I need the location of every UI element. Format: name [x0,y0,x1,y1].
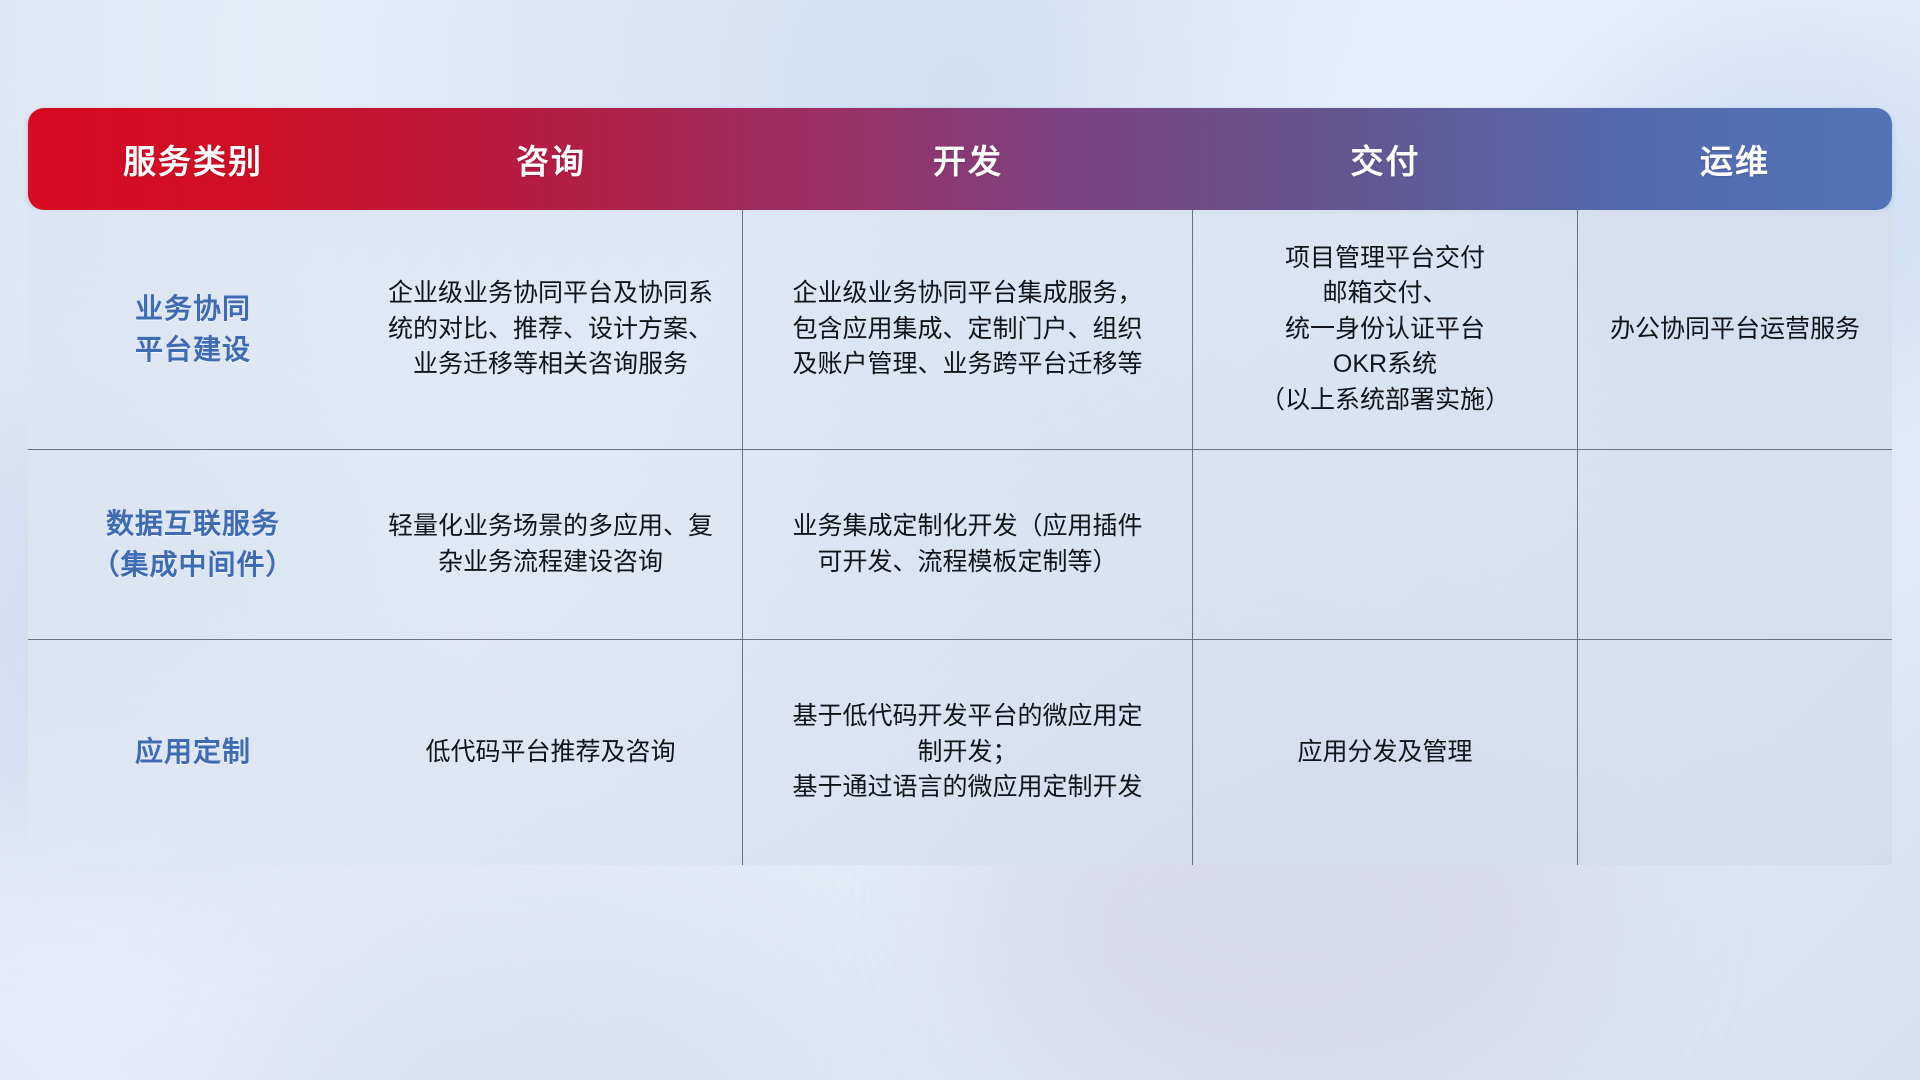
row-category-label: 应用定制 [28,640,358,865]
table-header-row: 服务类别 咨询 开发 交付 运维 [28,108,1892,210]
row-category-label: 业务协同 平台建设 [28,210,358,449]
service-matrix-table: 服务类别 咨询 开发 交付 运维 业务协同 平台建设 企业级业务协同平台及协同系… [28,108,1892,865]
cell-consulting: 企业级业务协同平台及协同系 统的对比、推荐、设计方案、 业务迁移等相关咨询服务 [358,210,743,449]
column-header-delivery-label: 交付 [1351,135,1421,183]
cell-consulting: 轻量化业务场景的多应用、复 杂业务流程建设咨询 [358,450,743,639]
table-row: 数据互联服务 （集成中间件） 轻量化业务场景的多应用、复 杂业务流程建设咨询 业… [28,450,1892,640]
column-header-category: 服务类别 [28,108,358,210]
column-header-development-label: 开发 [933,135,1003,183]
slide-canvas: 服务类别 咨询 开发 交付 运维 业务协同 平台建设 企业级业务协同平台及协同系… [0,0,1920,1080]
cell-development: 基于低代码开发平台的微应用定 制开发； 基于通过语言的微应用定制开发 [743,640,1193,865]
cell-delivery: 应用分发及管理 [1193,640,1578,865]
column-header-operations-label: 运维 [1700,135,1770,183]
table-row: 业务协同 平台建设 企业级业务协同平台及协同系 统的对比、推荐、设计方案、 业务… [28,210,1892,450]
column-header-consulting: 咨询 [358,108,743,210]
cell-development: 企业级业务协同平台集成服务， 包含应用集成、定制门户、组织 及账户管理、业务跨平… [743,210,1193,449]
table-body: 业务协同 平台建设 企业级业务协同平台及协同系 统的对比、推荐、设计方案、 业务… [28,210,1892,865]
cell-operations [1578,450,1892,639]
cell-development: 业务集成定制化开发（应用插件 可开发、流程模板定制等） [743,450,1193,639]
column-header-development: 开发 [743,108,1193,210]
cell-delivery [1193,450,1578,639]
column-header-operations: 运维 [1578,108,1892,210]
cell-operations: 办公协同平台运营服务 [1578,210,1892,449]
background-bloom-bottom-left [250,930,790,1080]
column-header-category-label: 服务类别 [123,135,263,183]
table-row: 应用定制 低代码平台推荐及咨询 基于低代码开发平台的微应用定 制开发； 基于通过… [28,640,1892,865]
column-header-delivery: 交付 [1193,108,1578,210]
cell-operations [1578,640,1892,865]
row-category-label: 数据互联服务 （集成中间件） [28,450,358,639]
cell-consulting: 低代码平台推荐及咨询 [358,640,743,865]
column-header-consulting-label: 咨询 [516,135,586,183]
cell-delivery: 项目管理平台交付 邮箱交付、 统一身份认证平台 OKR系统 （以上系统部署实施） [1193,210,1578,449]
